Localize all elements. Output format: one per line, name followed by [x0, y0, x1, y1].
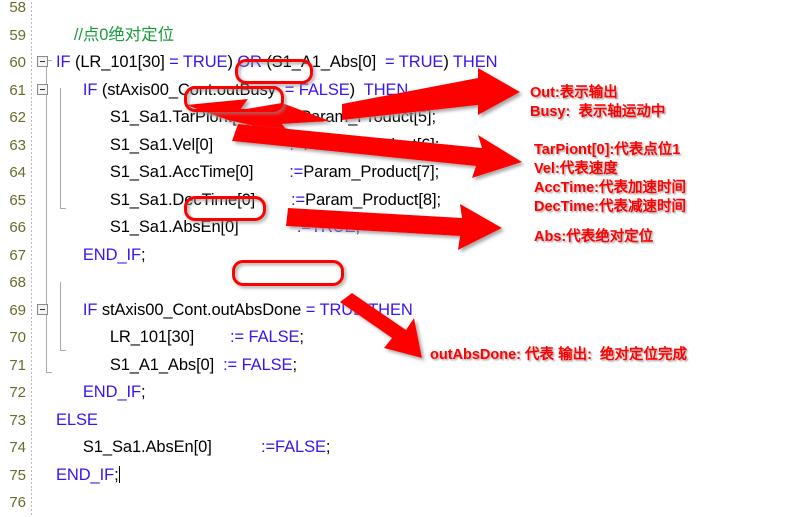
fold-collapse-icon-61[interactable] — [37, 84, 48, 95]
code-text-75: END_IF; — [56, 462, 803, 490]
code-text-61: IF (stAxis00_Cont.outBusy = FALSE) THEN — [56, 77, 803, 105]
line-number-70: 70 — [0, 329, 30, 346]
code-text-69: IF stAxis00_Cont.outAbsDone = TRUE THEN — [56, 297, 803, 325]
code-line-59[interactable]: 59 //点0绝对定位 — [0, 22, 803, 50]
fold-column — [34, 132, 56, 160]
code-line-64[interactable]: 64 S1_Sa1.AccTime[0] :=Param_Product[7]; — [0, 159, 803, 187]
line-number-72: 72 — [0, 384, 30, 401]
line-number-69: 69 — [0, 302, 30, 319]
code-text-66: S1_Sa1.AbsEn[0] :=TRUE; — [56, 214, 803, 242]
line-number-59: 59 — [0, 27, 30, 44]
fold-column — [34, 407, 56, 435]
code-line-73[interactable]: 73ELSE — [0, 407, 803, 435]
code-text-63: S1_Sa1.Vel[0] :=Param_Product[6]; — [56, 132, 803, 160]
code-line-60[interactable]: 60IF (LR_101[30] = TRUE) OR (S1_A1_Abs[0… — [0, 49, 803, 77]
code-text-72: END_IF; — [56, 379, 803, 407]
line-number-64: 64 — [0, 164, 30, 181]
fold-column — [34, 462, 56, 490]
line-number-58: 58 — [0, 0, 30, 16]
code-line-69[interactable]: 69 IF stAxis00_Cont.outAbsDone = TRUE TH… — [0, 297, 803, 325]
line-number-75: 75 — [0, 467, 30, 484]
fold-column — [34, 22, 56, 50]
fold-column — [34, 187, 56, 215]
code-line-72[interactable]: 72 END_IF; — [0, 379, 803, 407]
fold-column — [34, 379, 56, 407]
fold-column — [34, 269, 56, 297]
code-line-71[interactable]: 71 S1_A1_Abs[0] := FALSE; — [0, 352, 803, 380]
code-line-61[interactable]: 61 IF (stAxis00_Cont.outBusy = FALSE) TH… — [0, 77, 803, 105]
code-line-76[interactable]: 76 — [0, 489, 803, 517]
code-text-71: S1_A1_Abs[0] := FALSE; — [56, 352, 803, 380]
fold-collapse-icon-60[interactable] — [37, 56, 48, 67]
line-number-67: 67 — [0, 247, 30, 264]
fold-column — [34, 489, 56, 517]
code-line-74[interactable]: 74 S1_Sa1.AbsEn[0] :=FALSE; — [0, 434, 803, 462]
fold-column — [34, 242, 56, 270]
code-text-60: IF (LR_101[30] = TRUE) OR (S1_A1_Abs[0] … — [56, 49, 803, 77]
code-text-74: S1_Sa1.AbsEn[0] :=FALSE; — [56, 434, 803, 462]
fold-column — [34, 49, 56, 77]
code-text-73: ELSE — [56, 407, 803, 435]
code-line-58[interactable]: 58 — [0, 0, 803, 22]
line-number-60: 60 — [0, 54, 30, 71]
fold-column — [34, 324, 56, 352]
line-number-73: 73 — [0, 412, 30, 429]
line-number-71: 71 — [0, 357, 30, 374]
code-line-68[interactable]: 68 — [0, 269, 803, 297]
fold-collapse-icon-69[interactable] — [37, 304, 48, 315]
fold-column — [34, 434, 56, 462]
fold-column — [34, 0, 56, 22]
code-text-65: S1_Sa1.DecTime[0] :=Param_Product[8]; — [56, 187, 803, 215]
line-number-63: 63 — [0, 137, 30, 154]
code-editor[interactable]: 5859 //点0绝对定位60IF (LR_101[30] = TRUE) OR… — [0, 0, 803, 454]
fold-column — [34, 352, 56, 380]
fold-column — [34, 104, 56, 132]
line-number-68: 68 — [0, 274, 30, 291]
code-text-62: S1_Sa1.TarPiont[0] :=Param_Product[5]; — [56, 104, 803, 132]
line-number-65: 65 — [0, 192, 30, 209]
fold-column — [34, 297, 56, 325]
code-text-70: LR_101[30] := FALSE; — [56, 324, 803, 352]
code-line-75[interactable]: 75END_IF; — [0, 462, 803, 490]
code-text-67: END_IF; — [56, 242, 803, 270]
code-line-62[interactable]: 62 S1_Sa1.TarPiont[0] :=Param_Product[5]… — [0, 104, 803, 132]
line-number-66: 66 — [0, 219, 30, 236]
fold-column — [34, 214, 56, 242]
code-line-65[interactable]: 65 S1_Sa1.DecTime[0] :=Param_Product[8]; — [0, 187, 803, 215]
line-number-76: 76 — [0, 494, 30, 511]
fold-column — [34, 77, 56, 105]
code-line-70[interactable]: 70 LR_101[30] := FALSE; — [0, 324, 803, 352]
line-number-61: 61 — [0, 82, 30, 99]
code-text-64: S1_Sa1.AccTime[0] :=Param_Product[7]; — [56, 159, 803, 187]
fold-column — [34, 159, 56, 187]
code-line-66[interactable]: 66 S1_Sa1.AbsEn[0] :=TRUE; — [0, 214, 803, 242]
code-line-63[interactable]: 63 S1_Sa1.Vel[0] :=Param_Product[6]; — [0, 132, 803, 160]
code-text-59: //点0绝对定位 — [56, 22, 803, 50]
code-line-67[interactable]: 67 END_IF; — [0, 242, 803, 270]
line-number-62: 62 — [0, 109, 30, 126]
